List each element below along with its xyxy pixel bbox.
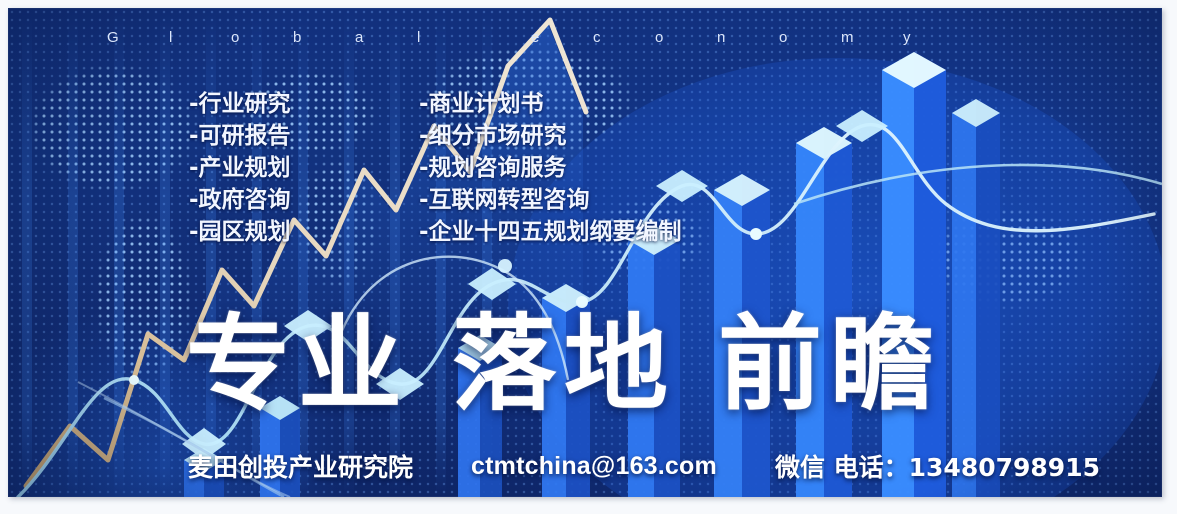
kicker-text: Global economy <box>107 29 965 46</box>
banner-root: Global economy -行业研究 -可研报告 -产业规划 -政府咨询 -… <box>0 0 1177 514</box>
service-item: -企业十四五规划纲要编制 <box>419 216 682 248</box>
service-item: -产业规划 <box>189 152 291 184</box>
headline-part-2: 落地 <box>452 303 676 425</box>
service-item: -商业计划书 <box>419 88 682 120</box>
headline: 专业落地前瞻 <box>186 304 1066 424</box>
footer-organization: 麦田创投产业研究院 <box>188 448 413 484</box>
service-item: -互联网转型咨询 <box>419 184 682 216</box>
service-item: -行业研究 <box>189 88 291 120</box>
service-item: -政府咨询 <box>189 184 291 216</box>
arc-center-node <box>498 259 512 273</box>
service-item: -园区规划 <box>189 216 291 248</box>
kicker-global-economy: Global economy <box>76 12 1096 63</box>
service-item: -细分市场研究 <box>419 120 682 152</box>
service-item: -可研报告 <box>189 120 291 152</box>
footer-contact-phone: 微信 电话：13480798915 <box>775 448 1100 484</box>
bar-8 <box>882 52 946 497</box>
service-list-left: -行业研究 -可研报告 -产业规划 -政府咨询 -园区规划 <box>189 88 291 248</box>
bar-9 <box>952 99 1000 497</box>
banner-stage: Global economy -行业研究 -可研报告 -产业规划 -政府咨询 -… <box>8 8 1162 497</box>
headline-part-1: 专业 <box>186 303 410 425</box>
service-item: -规划咨询服务 <box>419 152 682 184</box>
headline-part-3: 前瞻 <box>718 303 942 425</box>
footer-contact-row: 麦田创投产业研究院ctmtchina@163.com微信 电话：13480798… <box>188 448 1148 482</box>
service-list-right: -商业计划书 -细分市场研究 -规划咨询服务 -互联网转型咨询 -企业十四五规划… <box>419 88 682 248</box>
footer-email[interactable]: ctmtchina@163.com <box>471 452 717 481</box>
